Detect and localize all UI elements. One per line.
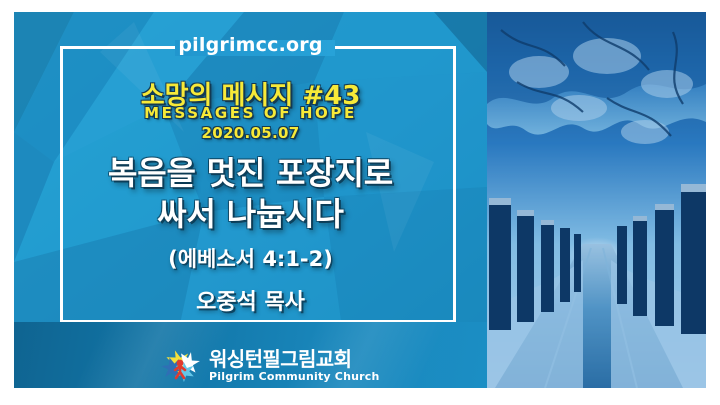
- sermon-title-line-1: 복음을 멋진 포장지로: [14, 153, 487, 194]
- church-logo-text: 워싱턴필그림교회 Pilgrim Community Church: [209, 349, 380, 382]
- website-url: pilgrimcc.org: [14, 34, 487, 56]
- sermon-date: 2020.05.07: [14, 124, 487, 142]
- winter-road-photo: [487, 12, 706, 388]
- title-panel: pilgrimcc.org 소망의 메시지 #43 MESSAGES OF HO…: [14, 12, 487, 388]
- sermon-title-line-2: 싸서 나눕시다: [14, 194, 487, 235]
- star-burst-person-icon: [160, 346, 202, 384]
- scripture-reference: (에베소서 4:1-2): [14, 243, 487, 273]
- slide-canvas: pilgrimcc.org 소망의 메시지 #43 MESSAGES OF HO…: [14, 12, 706, 388]
- speaker-name: 오중석 목사: [14, 284, 487, 316]
- series-title-english: MESSAGES OF HOPE: [14, 104, 487, 122]
- sermon-title: 복음을 멋진 포장지로 싸서 나눕시다: [14, 153, 487, 235]
- church-logo: 워싱턴필그림교회 Pilgrim Community Church: [160, 342, 390, 388]
- church-name-english: Pilgrim Community Church: [209, 371, 380, 382]
- sermon-slide: pilgrimcc.org 소망의 메시지 #43 MESSAGES OF HO…: [0, 0, 720, 405]
- church-name-korean: 워싱턴필그림교회: [209, 349, 380, 369]
